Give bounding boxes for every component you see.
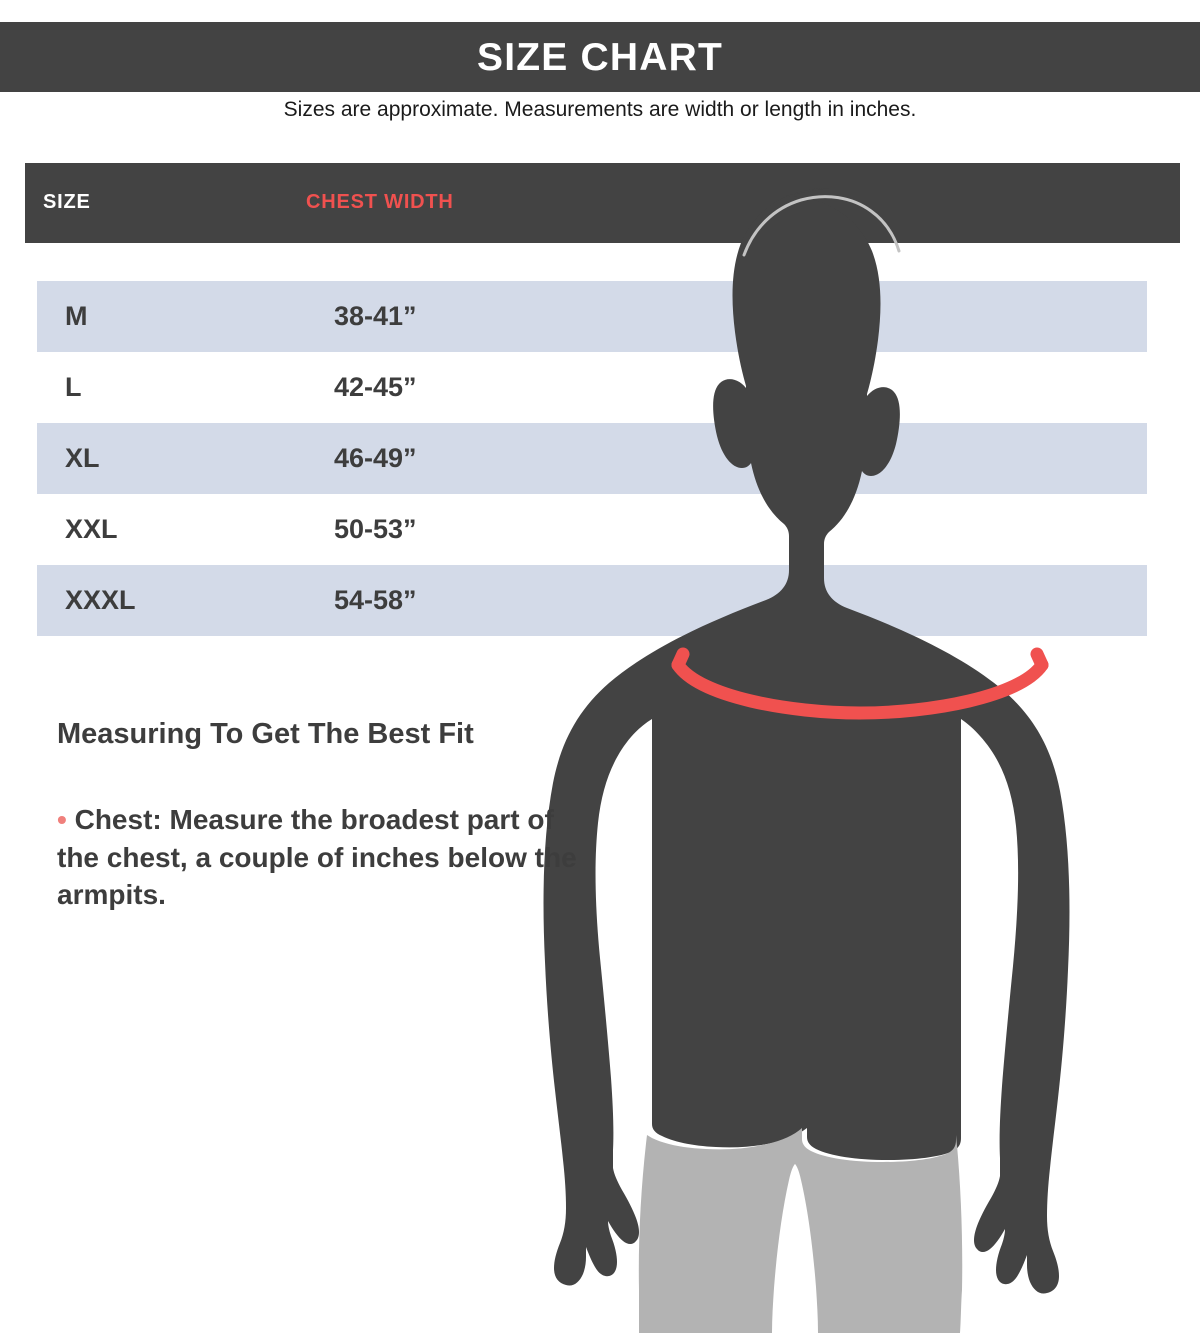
page-title: SIZE CHART: [477, 38, 723, 77]
row-stripe: [37, 565, 1147, 636]
table-header-row: SIZE CHEST WIDTH: [25, 163, 1180, 243]
size-chart-page: SIZE CHEST WIDTH M 38-41” L 42-45” XL 46…: [0, 0, 1200, 1333]
cell-size: L: [65, 372, 82, 403]
shorts: [639, 1128, 962, 1333]
row-stripe: [37, 423, 1147, 494]
cell-chest-width: 38-41”: [334, 301, 417, 332]
table-row: XL 46-49”: [0, 423, 1200, 494]
page-subtitle: Sizes are approximate. Measurements are …: [0, 98, 1200, 122]
row-stripe: [37, 352, 1147, 423]
row-stripe: [37, 494, 1147, 565]
measuring-notes-heading: Measuring To Get The Best Fit: [57, 718, 582, 751]
cell-size: XXXL: [65, 585, 136, 616]
column-header-size: SIZE: [43, 191, 91, 214]
measuring-notes-bullet-text: Chest: Measure the broadest part of the …: [57, 804, 577, 909]
cell-size: XXL: [65, 514, 118, 545]
table-row: L 42-45”: [0, 352, 1200, 423]
cell-chest-width: 54-58”: [334, 585, 417, 616]
measuring-notes: Measuring To Get The Best Fit • Chest: M…: [57, 718, 582, 941]
cell-chest-width: 50-53”: [334, 514, 417, 545]
table-row: XXL 50-53”: [0, 494, 1200, 565]
page-title-bar: SIZE CHART: [0, 22, 1200, 92]
cell-size: M: [65, 301, 88, 332]
column-header-chest-width: CHEST WIDTH: [306, 191, 454, 214]
row-stripe: [37, 281, 1147, 352]
bullet-dot-icon: •: [57, 804, 67, 835]
measuring-notes-bullet: • Chest: Measure the broadest part of th…: [57, 801, 582, 913]
cell-chest-width: 46-49”: [334, 443, 417, 474]
chest-measure-tape: [678, 654, 1042, 713]
table-row: XXXL 54-58”: [0, 565, 1200, 636]
size-table-body: M 38-41” L 42-45” XL 46-49” XXL 50-53” X…: [0, 281, 1200, 636]
cell-size: XL: [65, 443, 100, 474]
cell-chest-width: 42-45”: [334, 372, 417, 403]
table-row: M 38-41”: [0, 281, 1200, 352]
